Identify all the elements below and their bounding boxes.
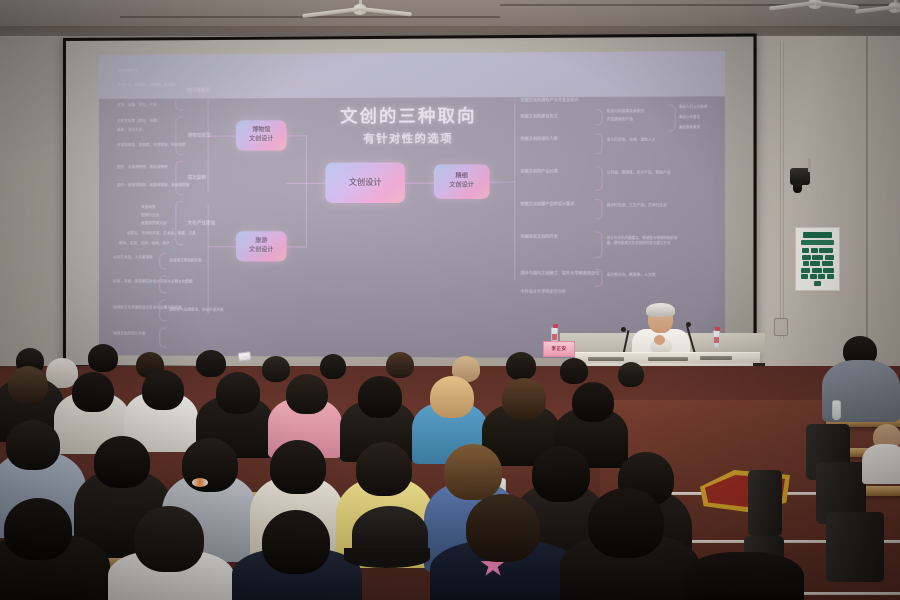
brace — [175, 161, 183, 195]
audience-head — [142, 370, 184, 410]
right-tail-leaf: 满足公众属性 — [679, 115, 700, 120]
mindmap-branch-node-top: 博物馆 文创设计 — [236, 120, 287, 150]
audience-head — [320, 354, 346, 379]
microphone-head-icon — [686, 322, 691, 327]
audience-head — [356, 442, 412, 496]
brace — [595, 109, 602, 125]
leaf-text: 地域文化的设计开发 — [113, 331, 145, 337]
audience-head — [270, 440, 326, 494]
lecture-hall-scene: 文创的三种取向 有针对性的选项 文创设计 — [0, 0, 900, 600]
microphone-head-icon — [621, 327, 626, 332]
security-camera-icon — [790, 168, 810, 185]
phone-device — [237, 351, 251, 362]
audience-head — [72, 372, 114, 412]
name-placard: 李正安 — [543, 341, 575, 357]
chair[interactable] — [826, 512, 884, 582]
branch-top-label: 博物馆 文创设计 — [249, 126, 273, 144]
leaf-text: 国内：故宫博物院、敦煌博物院、首都博物馆 — [117, 183, 189, 189]
audience-head — [358, 376, 402, 418]
connector — [287, 246, 307, 247]
podium-slot — [700, 356, 732, 360]
sign-title-bar — [803, 232, 832, 238]
audience-head — [444, 444, 502, 500]
audience-head — [588, 488, 664, 558]
leaf-text: 服饰、生活、文体、休闲、电子 — [119, 241, 170, 247]
sign-subtitle-bar — [801, 240, 834, 245]
brace — [175, 201, 183, 245]
audience-head — [6, 420, 60, 470]
podium-slot — [588, 357, 624, 361]
wall-conduit — [780, 40, 784, 340]
right-leaf-text: 中外设计大学的定位分析 — [521, 289, 567, 295]
leaf-text: 文化旅游产业 — [117, 69, 139, 75]
brace — [595, 134, 602, 154]
right-leaf-text: 挖掘文化创意产品的设计要求 — [521, 201, 575, 207]
left-label: 知识版权方 — [187, 87, 210, 93]
leaf-text: 科技馆类型、自然类、与博物馆、科技馆类 — [117, 143, 186, 149]
center-node-label: 文创设计 — [349, 177, 382, 189]
placard-text: 李正安 — [552, 346, 567, 352]
leaf-text: 故宫淘宝 — [141, 205, 155, 211]
brace — [175, 117, 183, 155]
right-wall — [745, 36, 900, 371]
right-leaf-text: 挖掘现有文创的开发 — [521, 234, 558, 240]
leaf-text: 文化产品（纪念品、出版物、影视剧） — [117, 82, 178, 88]
sub-node-label: 精细 文创设计 — [449, 173, 474, 191]
mindmap-center-node: 文创设计 — [325, 162, 405, 203]
cap-brim — [344, 548, 430, 568]
ceiling-fan-icon — [300, 0, 420, 20]
leaf-text: 国博衍生品 — [141, 213, 159, 219]
right-sub-leaf: 形式与内容属及其形式 — [607, 109, 645, 115]
audience-shoulders — [862, 444, 900, 484]
right-sub-leaf: 公共品、服务性、民众产品、精品产品 — [607, 170, 671, 176]
audience-head — [572, 382, 614, 422]
leaf-text: 创意礼、系列化开发、艺术品、家居、文具 — [127, 231, 196, 237]
leaf-text: 公共艺术品、人文景观类 — [113, 255, 153, 261]
leaf-text: 历史文化类（综合、专题） — [117, 119, 160, 125]
connector — [208, 90, 209, 191]
connector — [306, 135, 307, 182]
podium-slot — [648, 357, 688, 361]
audience-head — [262, 510, 330, 574]
ceiling-fan-icon — [850, 0, 900, 18]
wall-panel-seam — [866, 36, 868, 371]
right-tail-leaf: 满足人们公共需求 — [679, 105, 707, 111]
brace — [175, 70, 183, 110]
leaf-text: 国际化与品牌联名、文创产品开发 — [169, 307, 223, 313]
audience-head — [88, 344, 118, 372]
connector — [208, 136, 236, 137]
right-sub-leaf: 名人衍生性、地域、现有人士 — [607, 137, 656, 143]
audience-head — [430, 376, 474, 418]
audience-head — [134, 506, 204, 572]
connector — [287, 135, 307, 136]
audience-head — [196, 350, 226, 377]
right-leaf-text: 挖掘文创的原有形式 — [521, 113, 558, 119]
right-leaf-text: 国外与国内文创建立、提升大学教育的定位 — [521, 270, 600, 277]
mindmap-sub-node: 精细 文创设计 — [434, 164, 490, 199]
brace — [159, 327, 166, 347]
audience-head — [466, 494, 540, 562]
audience-head — [618, 362, 644, 387]
right-sub-leaf: 设计与文化内涵建立、地域性与地域特色的深度、提升民族文化自信的开发与建立方法 — [607, 236, 682, 247]
audience-head — [4, 498, 72, 560]
audience-head — [182, 438, 238, 492]
left-label: 博物馆类型 — [187, 133, 210, 139]
camera-mount-arm — [808, 158, 811, 172]
audience-head — [8, 366, 48, 404]
left-label: 成功案例 — [187, 175, 206, 181]
connector — [514, 97, 515, 280]
brace — [595, 199, 602, 219]
brace — [668, 105, 675, 132]
audience-head — [502, 378, 546, 420]
audience-head — [286, 374, 328, 414]
audience-head — [532, 446, 590, 502]
connector — [405, 183, 434, 184]
leaf-text: 文化：出版、衍生、产业 — [117, 103, 157, 109]
sign-legend-grid — [799, 248, 836, 286]
presenter-hair — [646, 303, 675, 317]
right-sub-leaf: 开发原有的产品 — [607, 117, 633, 123]
brace — [159, 253, 166, 269]
leaf-text: 旅游演艺项目的开发 — [169, 258, 202, 264]
right-leaf-text: 挖掘文创的潜在人群 — [521, 136, 558, 142]
right-leaf-text: 挖掘文创的产品分类 — [521, 168, 558, 174]
audience-head — [386, 352, 414, 378]
audience-head — [216, 372, 260, 414]
right-sub-leaf: 设计衍生品、工艺产品、艺术衍生品 — [607, 203, 667, 209]
connector — [208, 246, 236, 247]
brace — [595, 166, 602, 191]
connector — [489, 182, 514, 183]
audience-head — [262, 356, 290, 382]
leaf-text: 民俗、非遗、旅游景区的设计开发与主题文化挖掘 — [113, 279, 193, 285]
right-leaf-text: 挖掘文化的潜在产业开发及形式 — [521, 97, 579, 104]
audience-head — [506, 352, 536, 380]
emergency-evacuation-sign — [795, 227, 840, 291]
leaf-text: 国外：大英博物馆、故宫博物院 — [117, 165, 168, 171]
brace — [595, 268, 602, 286]
water-bottle — [713, 330, 720, 348]
leaf-text: 革命、当代艺术 — [117, 128, 142, 134]
audience-head — [94, 436, 150, 488]
connector — [306, 183, 307, 247]
leaf-text: 敦煌研究院文创 — [141, 221, 166, 227]
presenter — [630, 305, 690, 357]
wall-outlet-box — [774, 318, 788, 336]
right-sub-leaf: 设计类方向、教育类、人文类 — [607, 272, 656, 278]
water-bottle — [832, 400, 841, 420]
left-label: 文化产业建设 — [187, 220, 215, 226]
branch-bottom-label: 旅游 文创设计 — [249, 237, 273, 255]
audience-shoulders — [684, 552, 804, 600]
mindmap-branch-node-bottom: 旅游 文创设计 — [236, 231, 287, 261]
chair[interactable] — [748, 470, 782, 536]
audience-head — [560, 358, 588, 384]
presenter-hand — [654, 335, 665, 345]
brace — [595, 232, 602, 259]
hair-accessory — [192, 478, 208, 487]
right-tail-leaf: 满足群体需求 — [679, 125, 700, 130]
